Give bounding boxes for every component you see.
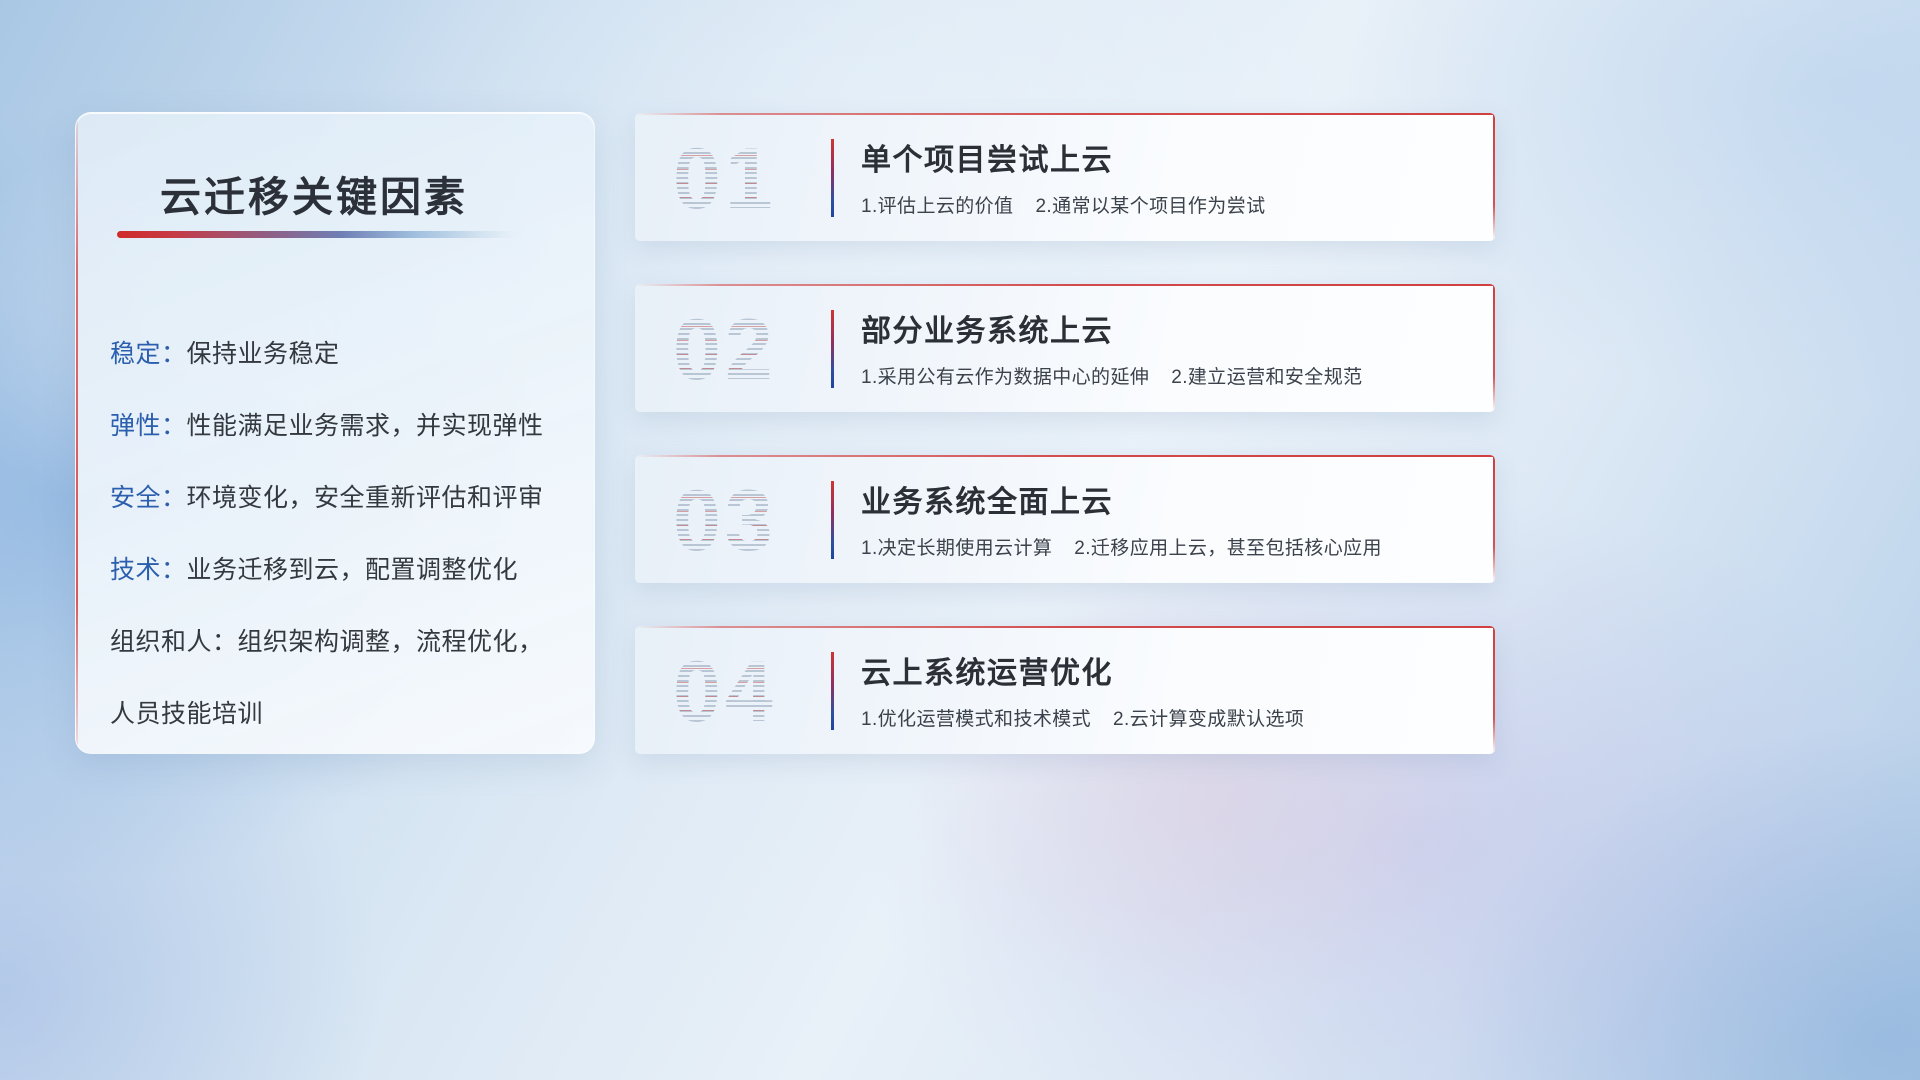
step-point-2: 2.建立运营和安全规范: [1171, 367, 1362, 388]
factor-text: 性能满足业务需求，并实现弹性: [187, 412, 544, 440]
step-card[interactable]: 0202部分业务系统上云1.采用公有云作为数据中心的延伸2.建立运营和安全规范: [635, 284, 1495, 412]
factor-text: 环境变化，安全重新评估和评审: [187, 484, 544, 512]
factor-row: 技术：业务迁移到云，配置调整优化: [110, 534, 572, 606]
step-point-1: 1.决定长期使用云计算: [861, 538, 1052, 559]
factor-label: 稳定：: [110, 340, 187, 368]
step-point-1: 1.评估上云的价值: [861, 196, 1013, 217]
step-number-watermark: 02: [673, 298, 863, 402]
factor-row: 弹性：性能满足业务需求，并实现弹性: [110, 390, 572, 462]
page-title: 云迁移关键因素: [160, 163, 468, 223]
factor-text: 人员技能培训: [110, 700, 263, 728]
step-points: 1.优化运营模式和技术模式2.云计算变成默认选项: [861, 704, 1304, 731]
step-points: 1.采用公有云作为数据中心的延伸2.建立运营和安全规范: [861, 362, 1363, 389]
step-point-1: 1.优化运营模式和技术模式: [861, 709, 1091, 730]
factor-row: 人员技能培训: [110, 678, 572, 750]
factor-label: 组织和人：: [110, 628, 238, 656]
step-title: 单个项目尝试上云: [861, 135, 1113, 179]
factor-label: 安全：: [110, 484, 187, 512]
step-points: 1.决定长期使用云计算2.迁移应用上云，甚至包括核心应用: [861, 533, 1382, 560]
step-point-1: 1.采用公有云作为数据中心的延伸: [861, 367, 1149, 388]
step-accent-bar: [831, 652, 834, 730]
factor-list: 稳定：保持业务稳定弹性：性能满足业务需求，并实现弹性安全：环境变化，安全重新评估…: [110, 318, 572, 750]
factor-row: 安全：环境变化，安全重新评估和评审: [110, 462, 572, 534]
factor-text: 保持业务稳定: [187, 340, 340, 368]
step-point-2: 2.云计算变成默认选项: [1113, 709, 1304, 730]
step-point-2: 2.迁移应用上云，甚至包括核心应用: [1074, 538, 1382, 559]
step-title: 业务系统全面上云: [861, 477, 1113, 521]
step-accent-bar: [831, 310, 834, 388]
step-number-watermark: 01: [673, 127, 863, 231]
factor-row: 组织和人：组织架构调整，流程优化，: [110, 606, 572, 678]
step-card[interactable]: 0101单个项目尝试上云1.评估上云的价值2.通常以某个项目作为尝试: [635, 113, 1495, 241]
step-point-2: 2.通常以某个项目作为尝试: [1035, 196, 1265, 217]
title-underline-accent: [117, 231, 517, 238]
step-number-watermark: 03: [673, 469, 863, 573]
key-factors-panel: 云迁移关键因素 稳定：保持业务稳定弹性：性能满足业务需求，并实现弹性安全：环境变…: [75, 112, 595, 754]
step-card[interactable]: 0404云上系统运营优化1.优化运营模式和技术模式2.云计算变成默认选项: [635, 626, 1495, 754]
factor-text: 组织架构调整，流程优化，: [238, 628, 544, 656]
factor-label: 弹性：: [110, 412, 187, 440]
factor-label: 技术：: [110, 556, 187, 584]
step-card-list: 0101单个项目尝试上云1.评估上云的价值2.通常以某个项目作为尝试0202部分…: [635, 113, 1495, 797]
factor-text: 业务迁移到云，配置调整优化: [187, 556, 519, 584]
step-points: 1.评估上云的价值2.通常以某个项目作为尝试: [861, 191, 1266, 218]
step-number-watermark: 04: [673, 640, 863, 744]
step-accent-bar: [831, 139, 834, 217]
factor-row: 稳定：保持业务稳定: [110, 318, 572, 390]
step-title: 云上系统运营优化: [861, 648, 1113, 692]
step-title: 部分业务系统上云: [861, 306, 1113, 350]
step-accent-bar: [831, 481, 834, 559]
step-card[interactable]: 0303业务系统全面上云1.决定长期使用云计算2.迁移应用上云，甚至包括核心应用: [635, 455, 1495, 583]
